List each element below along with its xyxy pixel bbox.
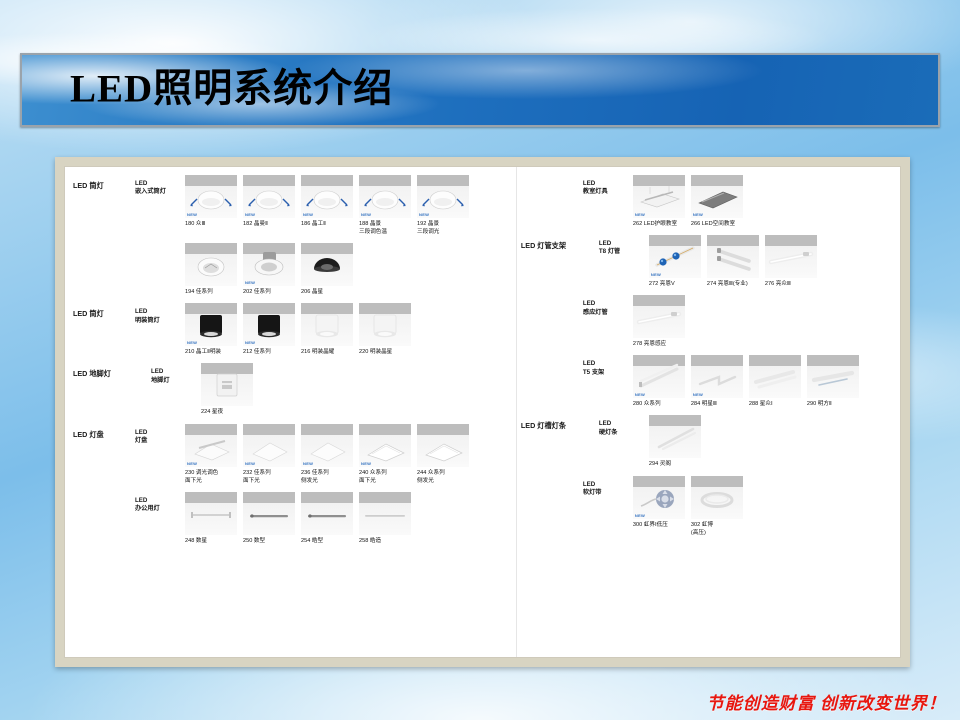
product-thumbnail xyxy=(185,243,237,286)
section-subcategory-label xyxy=(135,243,185,248)
section-subcategory-label: LED T5 支架 xyxy=(583,355,633,377)
product-thumbnail xyxy=(185,492,237,535)
product-thumbnail: NEW xyxy=(185,424,237,467)
section-subcategory-label: LED 软灯带 xyxy=(583,476,633,498)
new-badge: NEW xyxy=(245,280,255,285)
section-category-label xyxy=(521,476,583,482)
product-caption: 248 数星 xyxy=(185,537,237,545)
new-badge: NEW xyxy=(635,513,645,518)
new-badge: NEW xyxy=(245,461,255,466)
product-thumbnail: NEW xyxy=(359,424,411,467)
new-badge: NEW xyxy=(361,212,371,217)
catalog-section: LED 筒灯LED 明装筒灯 NEW210 晶工Ⅱ明装 NEW212 佳系列 2… xyxy=(73,303,516,360)
product-thumbnail xyxy=(301,243,353,286)
product-caption: 240 众系列 面下光 xyxy=(359,469,411,485)
product-caption: 194 佳系列 xyxy=(185,288,237,296)
catalog-item-list: 224 星夜 xyxy=(201,363,516,420)
new-badge: NEW xyxy=(245,340,255,345)
section-subcategory-label: LED 嵌入式筒灯 xyxy=(135,175,185,197)
product-caption: 244 众系列 侧发光 xyxy=(417,469,469,485)
catalog-item[interactable]: NEW272 亮恩V xyxy=(649,235,701,288)
catalog-item[interactable]: NEW188 晶景 三段调色温 xyxy=(359,175,411,236)
product-thumbnail xyxy=(243,492,295,535)
product-caption: 206 晶星 xyxy=(301,288,353,296)
product-thumbnail: NEW xyxy=(185,303,237,346)
product-thumbnail xyxy=(707,235,759,278)
section-subcategory-label: LED T8 灯管 xyxy=(599,235,649,257)
catalog-item-list: NEW280 众系列NEW284 明星Ⅲ 288 星众Ⅰ 290 明方Ⅱ xyxy=(633,355,894,412)
section-category-label: LED 灯槽灯条 xyxy=(521,415,599,431)
catalog-item[interactable]: NEW212 佳系列 xyxy=(243,303,295,356)
catalog-item-list: NEW272 亮恩V 274 亮恩Ⅲ(专业) 276 亮众Ⅲ xyxy=(649,235,894,292)
section-subcategory-label: LED 教室灯具 xyxy=(583,175,633,197)
new-badge: NEW xyxy=(651,272,661,277)
catalog-item[interactable]: 288 星众Ⅰ xyxy=(749,355,801,408)
section-subcategory-label: LED 办公用灯 xyxy=(135,492,185,514)
product-thumbnail xyxy=(301,303,353,346)
catalog-item-list: 278 亮恩感应 xyxy=(633,295,894,352)
product-thumbnail xyxy=(807,355,859,398)
product-thumbnail: NEW xyxy=(243,175,295,218)
product-caption: 250 数型 xyxy=(243,537,295,545)
catalog-section: LED 软灯带 NEW300 虹界Ⅰ低压 302 虹博 (高压) xyxy=(521,476,894,541)
catalog-item-list: 194 佳系列 NEW202 佳系列 206 晶星 xyxy=(185,243,516,300)
new-badge: NEW xyxy=(187,340,197,345)
catalog-item[interactable]: NEW262 LED护眼教室 xyxy=(633,175,685,228)
product-thumbnail: NEW xyxy=(633,175,685,218)
product-caption: 230 调光调色 面下光 xyxy=(185,469,237,485)
product-caption: 302 虹博 (高压) xyxy=(691,521,743,537)
catalog-item[interactable]: NEW192 晶景 三段调光 xyxy=(417,175,469,236)
catalog-section: LED 灯盘LED 灯盘 NEW230 调光调色 面下光NEW232 佳系列 面… xyxy=(73,424,516,489)
section-category-label xyxy=(73,492,135,498)
new-badge: NEW xyxy=(635,212,645,217)
page-title: LED照明系统介绍 xyxy=(70,70,393,109)
catalog-item[interactable]: NEW280 众系列 xyxy=(633,355,685,408)
new-badge: NEW xyxy=(361,461,371,466)
catalog-item[interactable]: 276 亮众Ⅲ xyxy=(765,235,817,288)
catalog-item[interactable]: 216 明装晶耀 xyxy=(301,303,353,356)
catalog-section: LED 筒灯LED 嵌入式筒灯 NEW180 众Ⅲ NEW182 晶曼Ⅱ NEW… xyxy=(73,175,516,300)
section-subcategory-label: LED 硬灯条 xyxy=(599,415,649,437)
new-badge: NEW xyxy=(187,461,197,466)
product-caption: 272 亮恩V xyxy=(649,280,701,288)
product-thumbnail xyxy=(749,355,801,398)
product-caption: 202 佳系列 xyxy=(243,288,295,296)
catalog-item[interactable]: 250 数型 xyxy=(243,492,295,545)
catalog-section: LED 教室灯具 NEW262 LED护眼教室 NEW266 LED空间教室 xyxy=(521,175,894,232)
product-caption: 254 皓型 xyxy=(301,537,353,545)
product-caption: 274 亮恩Ⅲ(专业) xyxy=(707,280,759,288)
catalog-item[interactable]: NEW240 众系列 面下光 xyxy=(359,424,411,485)
catalog-board: LED 筒灯LED 嵌入式筒灯 NEW180 众Ⅲ NEW182 晶曼Ⅱ NEW… xyxy=(55,157,910,667)
product-caption: 180 众Ⅲ xyxy=(185,220,237,228)
product-caption: 288 星众Ⅰ xyxy=(749,400,801,408)
section-subcategory-label: LED 明装筒灯 xyxy=(135,303,185,325)
catalog-item-list: 294 灵阁 xyxy=(649,415,894,472)
catalog-item[interactable]: NEW230 调光调色 面下光 xyxy=(185,424,237,485)
catalog-item[interactable]: 224 星夜 xyxy=(201,363,253,416)
new-badge: NEW xyxy=(245,212,255,217)
product-caption: 220 明装晶星 xyxy=(359,348,411,356)
catalog-item[interactable]: 290 明方Ⅱ xyxy=(807,355,859,408)
section-category-label xyxy=(521,355,583,361)
product-thumbnail: NEW xyxy=(649,235,701,278)
product-caption: 210 晶工Ⅱ明装 xyxy=(185,348,237,356)
catalog-section: LED 灯管支架LED T8 灯管 NEW272 亮恩V 274 亮恩Ⅲ(专业)… xyxy=(521,235,894,292)
catalog-item-list: NEW210 晶工Ⅱ明装 NEW212 佳系列 216 明装晶耀 220 明装晶… xyxy=(185,303,516,360)
product-caption: 232 佳系列 面下光 xyxy=(243,469,295,485)
new-badge: NEW xyxy=(635,392,645,397)
catalog-item[interactable]: 244 众系列 侧发光 xyxy=(417,424,469,485)
product-thumbnail xyxy=(417,424,469,467)
catalog-item-list: NEW262 LED护眼教室 NEW266 LED空间教室 xyxy=(633,175,894,232)
catalog-item[interactable]: 278 亮恩感应 xyxy=(633,295,685,348)
catalog-section: LED T5 支架 NEW280 众系列NEW284 明星Ⅲ 288 星众Ⅰ 2… xyxy=(521,355,894,412)
catalog-item[interactable]: NEW236 佳系列 侧发光 xyxy=(301,424,353,485)
catalog-item[interactable]: NEW186 晶工Ⅱ xyxy=(301,175,353,236)
catalog-item[interactable]: NEW202 佳系列 xyxy=(243,243,295,296)
product-thumbnail xyxy=(765,235,817,278)
new-badge: NEW xyxy=(303,461,313,466)
product-caption: 224 星夜 xyxy=(201,408,253,416)
product-caption: 188 晶景 三段调色温 xyxy=(359,220,411,236)
product-thumbnail: NEW xyxy=(185,175,237,218)
product-thumbnail xyxy=(301,492,353,535)
section-category-label: LED 灯管支架 xyxy=(521,235,599,251)
catalog-item[interactable]: 220 明装晶星 xyxy=(359,303,411,356)
product-caption: 276 亮众Ⅲ xyxy=(765,280,817,288)
catalog-item[interactable]: NEW210 晶工Ⅱ明装 xyxy=(185,303,237,356)
catalog-item[interactable]: NEW180 众Ⅲ xyxy=(185,175,237,236)
product-thumbnail xyxy=(633,295,685,338)
product-caption: 258 皓造 xyxy=(359,537,411,545)
catalog-item[interactable]: NEW182 晶曼Ⅱ xyxy=(243,175,295,236)
product-thumbnail xyxy=(359,492,411,535)
section-category-label xyxy=(521,175,583,181)
section-subcategory-label: LED 地脚灯 xyxy=(151,363,201,385)
product-thumbnail: NEW xyxy=(243,424,295,467)
product-caption: 294 灵阁 xyxy=(649,460,701,468)
section-category-label xyxy=(73,243,135,249)
product-caption: 266 LED空间教室 xyxy=(691,220,743,228)
product-thumbnail: NEW xyxy=(691,175,743,218)
catalog-item[interactable]: NEW300 虹界Ⅰ低压 xyxy=(633,476,685,537)
catalog-item[interactable]: NEW284 明星Ⅲ xyxy=(691,355,743,408)
product-caption: 186 晶工Ⅱ xyxy=(301,220,353,228)
catalog-section: LED 地脚灯LED 地脚灯 224 星夜 xyxy=(73,363,516,420)
product-thumbnail xyxy=(649,415,701,458)
new-badge: NEW xyxy=(187,212,197,217)
product-thumbnail xyxy=(691,476,743,519)
catalog-item[interactable]: 248 数星 xyxy=(185,492,237,545)
catalog-item-list: NEW300 虹界Ⅰ低压 302 虹博 (高压) xyxy=(633,476,894,541)
new-badge: NEW xyxy=(693,212,703,217)
section-category-label: LED 筒灯 xyxy=(73,175,135,191)
product-caption: 284 明星Ⅲ xyxy=(691,400,743,408)
section-category-label: LED 地脚灯 xyxy=(73,363,151,379)
catalog-item[interactable]: 254 皓型 xyxy=(301,492,353,545)
catalog-right-column: LED 教室灯具 NEW262 LED护眼教室 NEW266 LED空间教室LE… xyxy=(516,167,900,657)
product-caption: 280 众系列 xyxy=(633,400,685,408)
product-thumbnail: NEW xyxy=(633,355,685,398)
product-thumbnail xyxy=(201,363,253,406)
catalog-board-inner: LED 筒灯LED 嵌入式筒灯 NEW180 众Ⅲ NEW182 晶曼Ⅱ NEW… xyxy=(64,166,901,658)
product-caption: 182 晶曼Ⅱ xyxy=(243,220,295,228)
product-caption: 278 亮恩感应 xyxy=(633,340,685,348)
product-thumbnail: NEW xyxy=(301,175,353,218)
catalog-item[interactable]: 294 灵阁 xyxy=(649,415,701,468)
product-caption: 216 明装晶耀 xyxy=(301,348,353,356)
slide-canvas: LED照明系统介绍 LED 筒灯LED 嵌入式筒灯 NEW180 众Ⅲ NEW1… xyxy=(0,0,960,720)
section-subcategory-label: LED 感应灯管 xyxy=(583,295,633,317)
catalog-item-list: 248 数星 250 数型 254 皓型258 皓造 xyxy=(185,492,516,549)
product-thumbnail: NEW xyxy=(691,355,743,398)
catalog-item[interactable]: 258 皓造 xyxy=(359,492,411,545)
catalog-item[interactable]: NEW266 LED空间教室 xyxy=(691,175,743,228)
product-thumbnail: NEW xyxy=(243,243,295,286)
product-thumbnail: NEW xyxy=(243,303,295,346)
catalog-section: LED 灯槽灯条LED 硬灯条 294 灵阁 xyxy=(521,415,894,472)
section-subcategory-label: LED 灯盘 xyxy=(135,424,185,446)
product-caption: 300 虹界Ⅰ低压 xyxy=(633,521,685,529)
new-badge: NEW xyxy=(419,212,429,217)
product-caption: 192 晶景 三段调光 xyxy=(417,220,469,236)
catalog-item[interactable]: 206 晶星 xyxy=(301,243,353,296)
section-category-label: LED 筒灯 xyxy=(73,303,135,319)
product-thumbnail: NEW xyxy=(301,424,353,467)
product-thumbnail: NEW xyxy=(359,175,411,218)
title-banner: LED照明系统介绍 xyxy=(20,53,940,127)
catalog-item[interactable]: 194 佳系列 xyxy=(185,243,237,296)
product-thumbnail: NEW xyxy=(417,175,469,218)
section-category-label: LED 灯盘 xyxy=(73,424,135,440)
catalog-item[interactable]: NEW232 佳系列 面下光 xyxy=(243,424,295,485)
catalog-section: LED 办公用灯 248 数星 250 数型 254 皓型258 皓造 xyxy=(73,492,516,549)
product-thumbnail xyxy=(359,303,411,346)
product-caption: 262 LED护眼教室 xyxy=(633,220,685,228)
new-badge: NEW xyxy=(303,212,313,217)
catalog-item[interactable]: 302 虹博 (高压) xyxy=(691,476,743,537)
product-caption: 212 佳系列 xyxy=(243,348,295,356)
catalog-left-column: LED 筒灯LED 嵌入式筒灯 NEW180 众Ⅲ NEW182 晶曼Ⅱ NEW… xyxy=(65,167,516,657)
footer-slogan: 节能创造财富 创新改变世界！ xyxy=(707,689,946,714)
catalog-item-list: NEW230 调光调色 面下光NEW232 佳系列 面下光NEW236 佳系列 … xyxy=(185,424,516,489)
catalog-section: LED 感应灯管 278 亮恩感应 xyxy=(521,295,894,352)
product-caption: 290 明方Ⅱ xyxy=(807,400,859,408)
product-caption: 236 佳系列 侧发光 xyxy=(301,469,353,485)
catalog-item[interactable]: 274 亮恩Ⅲ(专业) xyxy=(707,235,759,288)
product-thumbnail: NEW xyxy=(633,476,685,519)
catalog-item-list: NEW180 众Ⅲ NEW182 晶曼Ⅱ NEW186 晶工Ⅱ NEW188 晶… xyxy=(185,175,516,240)
new-badge: NEW xyxy=(693,392,703,397)
section-category-label xyxy=(521,295,583,301)
